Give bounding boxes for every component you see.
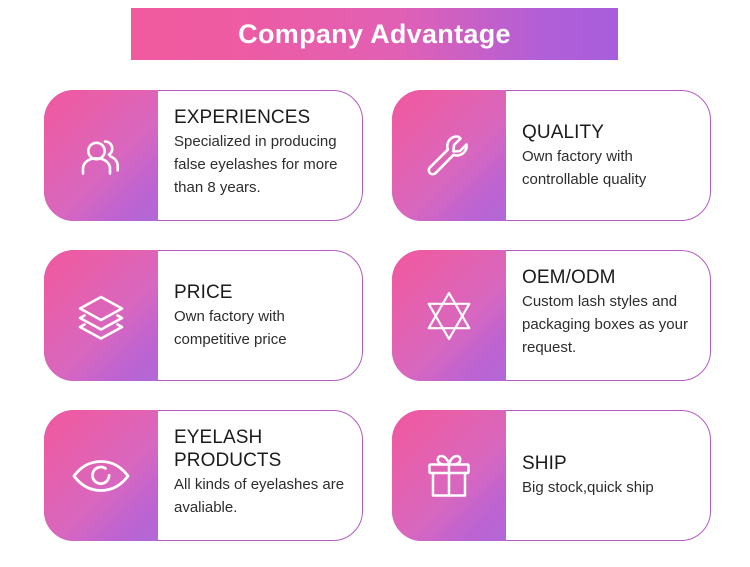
card-title: EYELASH PRODUCTS xyxy=(174,426,347,472)
card-title: EXPERIENCES xyxy=(174,106,347,129)
six-pointed-star-icon xyxy=(392,250,506,381)
card-title: PRICE xyxy=(174,281,347,304)
eye-icon xyxy=(44,410,158,541)
advantage-card-quality[interactable]: QUALITY Own factory with controllable qu… xyxy=(392,90,711,221)
card-description: Big stock,quick ship xyxy=(522,476,695,499)
page-title: Company Advantage xyxy=(238,21,511,48)
advantage-card-ship[interactable]: SHIP Big stock,quick ship xyxy=(392,410,711,541)
card-title: QUALITY xyxy=(522,121,695,144)
card-description: Own factory with competitive price xyxy=(174,305,347,351)
advantage-cards-grid: EXPERIENCES Specialized in producing fal… xyxy=(44,90,711,541)
card-text-content: OEM/ODM Custom lash styles and packaging… xyxy=(506,250,711,381)
advantage-card-eyelash-products[interactable]: EYELASH PRODUCTS All kinds of eyelashes … xyxy=(44,410,363,541)
header-banner: Company Advantage xyxy=(131,8,618,60)
wrench-icon xyxy=(392,90,506,221)
advantage-card-price[interactable]: PRICE Own factory with competitive price xyxy=(44,250,363,381)
card-description: Custom lash styles and packaging boxes a… xyxy=(522,290,695,359)
card-title: SHIP xyxy=(522,452,695,475)
advantage-card-experiences[interactable]: EXPERIENCES Specialized in producing fal… xyxy=(44,90,363,221)
card-text-content: PRICE Own factory with competitive price xyxy=(158,250,363,381)
two-people-icon xyxy=(44,90,158,221)
card-title: OEM/ODM xyxy=(522,266,695,289)
gift-box-icon xyxy=(392,410,506,541)
advantage-card-oem-odm[interactable]: OEM/ODM Custom lash styles and packaging… xyxy=(392,250,711,381)
card-text-content: EXPERIENCES Specialized in producing fal… xyxy=(158,90,363,221)
card-text-content: QUALITY Own factory with controllable qu… xyxy=(506,90,711,221)
card-text-content: SHIP Big stock,quick ship xyxy=(506,410,711,541)
card-text-content: EYELASH PRODUCTS All kinds of eyelashes … xyxy=(158,410,363,541)
card-description: Specialized in producing false eyelashes… xyxy=(174,130,347,199)
card-description: Own factory with controllable quality xyxy=(522,145,695,191)
layers-icon xyxy=(44,250,158,381)
card-description: All kinds of eyelashes are avaliable. xyxy=(174,473,347,519)
